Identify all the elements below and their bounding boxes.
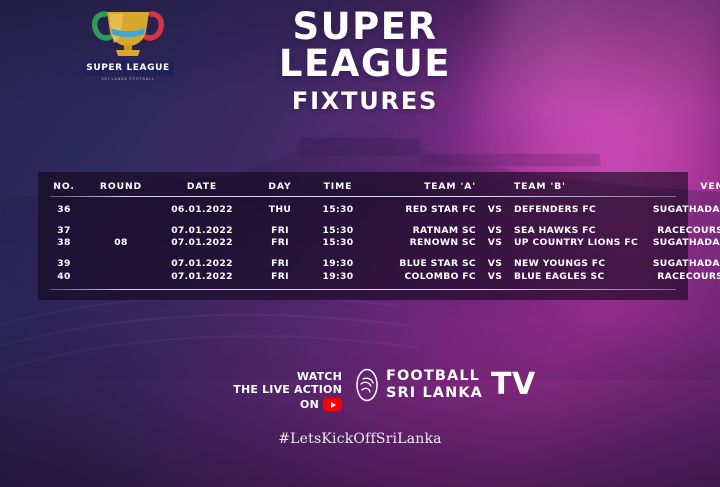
cell-time: 19:30 <box>308 259 368 268</box>
cell-venue: SUGATHADASA STADIUM <box>652 259 720 268</box>
cell-team-b: SEA HAWKS FC <box>510 226 652 235</box>
header-cell-date: DATE <box>152 182 252 191</box>
cell-no: 39 <box>38 259 90 268</box>
table-row: 4007.01.2022FRI19:30COLOMBO FCVSBLUE EAG… <box>38 270 688 283</box>
table-row: 3707.01.2022FRI15:30RATNAM SCVSSEA HAWKS… <box>38 224 688 237</box>
fixtures-poster: SUPER LEAGUE SRI LANKA FOOTBALL SUPER LE… <box>0 0 720 487</box>
cell-day: FRI <box>252 272 308 281</box>
play-triangle-icon <box>331 402 336 408</box>
header-cell-team-a: TEAM 'A' <box>368 182 480 191</box>
footer: WATCH THE LIVE ACTION ON FOOTBALL SRI LA… <box>0 366 720 456</box>
cell-day: THU <box>252 205 308 214</box>
page-subtitle: FIXTURES <box>200 89 530 113</box>
cell-team-b: UP COUNTRY LIONS FC <box>510 238 652 247</box>
cell-date: 06.01.2022 <box>152 205 252 214</box>
watch-line-2: THE LIVE ACTION <box>228 383 342 396</box>
cell-team-b: DEFENDERS FC <box>510 205 652 214</box>
cell-team-a: RATNAM SC <box>368 226 480 235</box>
header-cell-team-b: TEAM 'B' <box>510 182 652 191</box>
page-title: SUPER LEAGUE <box>200 8 530 82</box>
trophy-icon <box>74 4 182 56</box>
cell-time: 15:30 <box>308 205 368 214</box>
cell-vs: VS <box>480 205 510 214</box>
cell-venue: RACECOURSE STADIUM <box>652 272 720 281</box>
cell-day: FRI <box>252 259 308 268</box>
cell-vs: VS <box>480 272 510 281</box>
table-row: 3606.01.2022THU15:30RED STAR FCVSDEFENDE… <box>38 203 688 216</box>
table-header-divider <box>50 196 676 197</box>
watch-line-1: WATCH <box>228 370 342 383</box>
cell-team-a: COLOMBO FC <box>368 272 480 281</box>
fixtures-table: NO.ROUNDDATEDAYTIMETEAM 'A'TEAM 'B'VENUE… <box>38 172 688 300</box>
broadcaster-name: FOOTBALL SRI LANKA <box>386 368 483 402</box>
table-footer-divider <box>50 289 676 290</box>
logo-banner: SUPER LEAGUE <box>82 61 174 76</box>
tv-label: TV <box>491 370 536 400</box>
cell-team-b: NEW YOUNGS FC <box>510 259 652 268</box>
watch-on-row: ON <box>228 398 342 411</box>
watch-call-to-action: WATCH THE LIVE ACTION ON <box>228 370 342 411</box>
cell-venue: RACECOURSE STADIUM <box>652 226 720 235</box>
poster-title-block: SUPER LEAGUE FIXTURES <box>200 8 530 113</box>
cell-no: 36 <box>38 205 90 214</box>
header-cell-round: ROUND <box>90 182 152 191</box>
super-league-logo: SUPER LEAGUE SRI LANKA FOOTBALL <box>74 4 182 84</box>
header-cell-time: TIME <box>308 182 368 191</box>
cell-date: 07.01.2022 <box>152 238 252 247</box>
cell-date: 07.01.2022 <box>152 259 252 268</box>
cell-no: 40 <box>38 272 90 281</box>
logo-banner-text: SUPER LEAGUE <box>86 64 170 73</box>
cell-round: 08 <box>90 238 152 247</box>
cell-vs: VS <box>480 226 510 235</box>
cell-day: FRI <box>252 238 308 247</box>
table-header-row: NO.ROUNDDATEDAYTIMETEAM 'A'TEAM 'B'VENUE <box>38 180 688 193</box>
cell-date: 07.01.2022 <box>152 272 252 281</box>
header-cell-venue: VENUE <box>652 182 720 191</box>
cell-team-a: RENOWN SC <box>368 238 480 247</box>
cell-date: 07.01.2022 <box>152 226 252 235</box>
broadcaster-line-2: SRI LANKA <box>386 385 483 402</box>
watch-line-3: ON <box>300 398 319 411</box>
cell-team-a: RED STAR FC <box>368 205 480 214</box>
cell-team-a: BLUE STAR SC <box>368 259 480 268</box>
campaign-hashtag: #LetsKickOffSriLanka <box>0 431 720 447</box>
cell-time: 15:30 <box>308 226 368 235</box>
broadcaster-line-1: FOOTBALL <box>386 368 483 385</box>
header-cell-no: NO. <box>38 182 90 191</box>
football-sri-lanka-tv-logo: FOOTBALL SRI LANKA TV <box>354 368 536 402</box>
logo-subtitle: SRI LANKA FOOTBALL <box>74 77 182 81</box>
cell-no: 37 <box>38 226 90 235</box>
cell-venue: SUGATHADASA STADIUM <box>652 205 720 214</box>
youtube-icon[interactable] <box>323 398 342 411</box>
cell-vs: VS <box>480 238 510 247</box>
cell-time: 19:30 <box>308 272 368 281</box>
cell-vs: VS <box>480 259 510 268</box>
fixtures-panel: NO.ROUNDDATEDAYTIMETEAM 'A'TEAM 'B'VENUE… <box>38 172 688 300</box>
cell-day: FRI <box>252 226 308 235</box>
football-outline-icon <box>354 368 380 402</box>
cell-time: 15:30 <box>308 238 368 247</box>
cell-no: 38 <box>38 238 90 247</box>
cell-team-b: BLUE EAGLES SC <box>510 272 652 281</box>
header-cell-day: DAY <box>252 182 308 191</box>
table-row: 3907.01.2022FRI19:30BLUE STAR SCVSNEW YO… <box>38 258 688 271</box>
cell-venue: SUGATHADASA STADIUM <box>652 238 720 247</box>
table-row: 380807.01.2022FRI15:30RENOWN SCVSUP COUN… <box>38 237 688 250</box>
